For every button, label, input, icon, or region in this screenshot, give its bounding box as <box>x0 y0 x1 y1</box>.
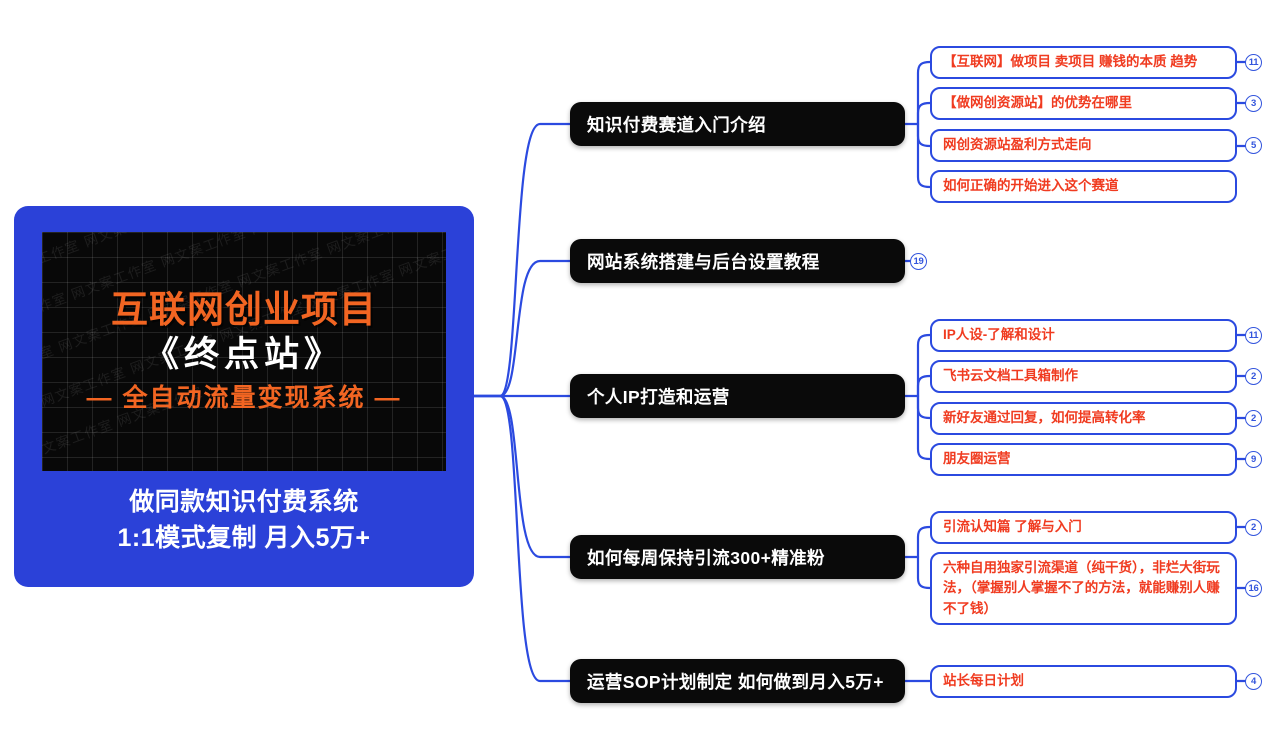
root-node[interactable]: 网文案工作室 网文案工作室 网文案工作室 网文案工作室 网文案工作室 网文案工作… <box>14 206 474 587</box>
leaf-node-1-2[interactable]: 【做网创资源站】的优势在哪里 <box>930 87 1237 120</box>
badge-3-4: 9 <box>1245 451 1262 468</box>
root-caption-line1: 做同款知识付费系统 <box>14 484 474 520</box>
leaf-node-1-4-label: 如何正确的开始进入这个赛道 <box>943 176 1119 196</box>
branch-node-4-label: 如何每周保持引流300+精准粉 <box>587 545 825 570</box>
link-b3-c4 <box>918 396 930 459</box>
leaf-node-1-1[interactable]: 【互联网】做项目 卖项目 赚钱的本质 趋势 <box>930 46 1237 79</box>
link-b3-c2 <box>918 376 930 396</box>
link-b4-c1 <box>918 527 930 557</box>
leaf-node-1-4[interactable]: 如何正确的开始进入这个赛道 <box>930 170 1237 203</box>
leaf-node-3-2-label: 飞书云文档工具箱制作 <box>943 366 1078 386</box>
branch-node-1-label: 知识付费赛道入门介绍 <box>587 112 766 137</box>
link-b3-c3 <box>918 396 930 418</box>
badge-1-1: 11 <box>1245 54 1262 71</box>
leaf-node-4-1[interactable]: 引流认知篇 了解与入门 <box>930 511 1237 544</box>
link-b1-c3 <box>918 124 930 146</box>
leaf-node-4-2[interactable]: 六种自用独家引流渠道（纯干货），非烂大街玩法，（掌握别人掌握不了的方法，就能赚别… <box>930 552 1237 625</box>
leaf-node-3-1[interactable]: IP人设-了解和设计 <box>930 319 1237 352</box>
leaf-node-3-2[interactable]: 飞书云文档工具箱制作 <box>930 360 1237 393</box>
branch-node-5-label: 运营SOP计划制定 如何做到月入5万+ <box>587 669 884 694</box>
link-b1-c2 <box>918 103 930 124</box>
leaf-node-3-1-label: IP人设-了解和设计 <box>943 325 1055 345</box>
branch-node-5[interactable]: 运营SOP计划制定 如何做到月入5万+ <box>570 659 905 703</box>
leaf-node-3-3[interactable]: 新好友通过回复，如何提高转化率 <box>930 402 1237 435</box>
leaf-node-3-3-label: 新好友通过回复，如何提高转化率 <box>943 408 1146 428</box>
branch-node-2[interactable]: 网站系统搭建与后台设置教程 <box>570 239 905 283</box>
poster-title-line2: 《终点站》 <box>144 333 344 377</box>
badge-5-1: 4 <box>1245 673 1262 690</box>
branch-node-2-label: 网站系统搭建与后台设置教程 <box>587 249 820 274</box>
poster-title-line1: 互联网创业项目 <box>111 290 377 331</box>
leaf-node-4-1-label: 引流认知篇 了解与入门 <box>943 517 1082 537</box>
link-b1-c1 <box>918 62 930 124</box>
leaf-node-1-1-label: 【互联网】做项目 卖项目 赚钱的本质 趋势 <box>943 52 1197 72</box>
link-b1-c4 <box>918 124 930 187</box>
badge-1-3: 5 <box>1245 137 1262 154</box>
link-root-branch-2 <box>473 261 570 396</box>
link-root-branch-4 <box>473 396 570 557</box>
link-b4-c2 <box>918 557 930 588</box>
badge-4-1: 2 <box>1245 519 1262 536</box>
leaf-node-3-4-label: 朋友圈运营 <box>943 449 1011 469</box>
link-b3-c1 <box>918 335 930 396</box>
leaf-node-4-2-label: 六种自用独家引流渠道（纯干货），非烂大街玩法，（掌握别人掌握不了的方法，就能赚别… <box>943 558 1225 620</box>
poster-text-stack: 互联网创业项目 《终点站》 — 全自动流量变现系统 — <box>42 232 446 471</box>
branch-node-3-label: 个人IP打造和运营 <box>587 384 730 409</box>
root-caption-line2: 1:1模式复制 月入5万+ <box>14 520 474 556</box>
leaf-node-1-2-label: 【做网创资源站】的优势在哪里 <box>943 93 1132 113</box>
badge-4-2: 16 <box>1245 580 1262 597</box>
branch-node-1[interactable]: 知识付费赛道入门介绍 <box>570 102 905 146</box>
badge-3-3: 2 <box>1245 410 1262 427</box>
branch-node-3[interactable]: 个人IP打造和运营 <box>570 374 905 418</box>
leaf-node-1-3-label: 网创资源站盈利方式走向 <box>943 135 1092 155</box>
badge-3-1: 11 <box>1245 327 1262 344</box>
branch-node-4[interactable]: 如何每周保持引流300+精准粉 <box>570 535 905 579</box>
link-root-branch-1 <box>473 124 570 396</box>
root-caption: 做同款知识付费系统 1:1模式复制 月入5万+ <box>14 484 474 557</box>
poster-title-line3: — 全自动流量变现系统 — <box>87 383 402 413</box>
badge-3-2: 2 <box>1245 368 1262 385</box>
mindmap-canvas: 网文案工作室 网文案工作室 网文案工作室 网文案工作室 网文案工作室 网文案工作… <box>0 0 1278 750</box>
leaf-node-3-4[interactable]: 朋友圈运营 <box>930 443 1237 476</box>
leaf-node-5-1[interactable]: 站长每日计划 <box>930 665 1237 698</box>
badge-branch-2: 19 <box>910 253 927 270</box>
leaf-node-1-3[interactable]: 网创资源站盈利方式走向 <box>930 129 1237 162</box>
root-poster-image: 网文案工作室 网文案工作室 网文案工作室 网文案工作室 网文案工作室 网文案工作… <box>42 232 446 471</box>
badge-1-2: 3 <box>1245 95 1262 112</box>
leaf-node-5-1-label: 站长每日计划 <box>943 671 1024 691</box>
link-root-branch-5 <box>473 396 570 681</box>
